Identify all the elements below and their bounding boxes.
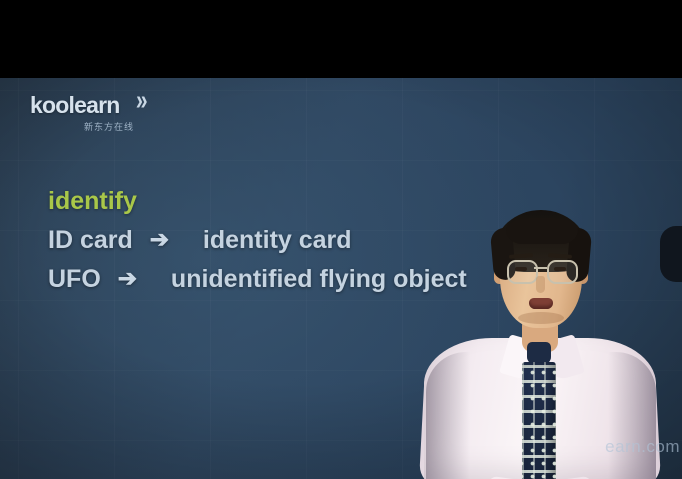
slide-content: identify ID card ➔ identity card UFO ➔ u…: [48, 182, 467, 299]
necktie-knot: [527, 342, 551, 364]
presenter-nose: [536, 276, 545, 293]
video-stage[interactable]: koolearn » 新东方在线 identify ID card ➔ iden…: [0, 78, 682, 479]
slide-row-1-term: UFO: [48, 260, 101, 299]
presenter-mouth: [529, 298, 553, 309]
site-watermark: earn.com: [605, 437, 680, 457]
logo-wordmark: koolearn: [30, 94, 150, 117]
edge-panel-toggle[interactable]: [660, 226, 682, 282]
slide-row-0-term: ID card: [48, 221, 133, 260]
arrow-right-icon: ➔: [140, 220, 179, 259]
presenter-eye-left: [515, 267, 527, 271]
arrow-right-icon: ➔: [108, 259, 147, 298]
logo-subtitle-chinese: 新东方在线: [30, 120, 150, 133]
eyeglasses-lens-left: [507, 260, 538, 284]
slide-keyword-line: identify: [48, 182, 467, 221]
eyeglasses-bridge: [534, 267, 547, 269]
slide-row-0: ID card ➔ identity card: [48, 221, 467, 260]
eyeglasses-lens-right: [547, 260, 578, 284]
necktie-pattern: [522, 362, 556, 479]
slide-row-1: UFO ➔ unidentified flying object: [48, 260, 467, 299]
koolearn-logo: koolearn » 新东方在线: [30, 94, 150, 133]
slide-row-0-definition: identity card: [203, 221, 352, 260]
presenter-hair-fringe: [506, 218, 578, 244]
presenter-chin-shadow: [518, 312, 564, 324]
presenter-eye-right: [554, 267, 566, 271]
shirt-shading-right: [608, 352, 656, 479]
shirt-shading-left: [426, 352, 470, 479]
slide-keyword: identify: [48, 187, 137, 215]
letterbox-bar-top: [0, 0, 682, 78]
logo-chevron-icon: »: [136, 86, 149, 114]
presenter-figure: [418, 166, 660, 479]
video-frame: koolearn » 新东方在线 identify ID card ➔ iden…: [0, 0, 682, 479]
